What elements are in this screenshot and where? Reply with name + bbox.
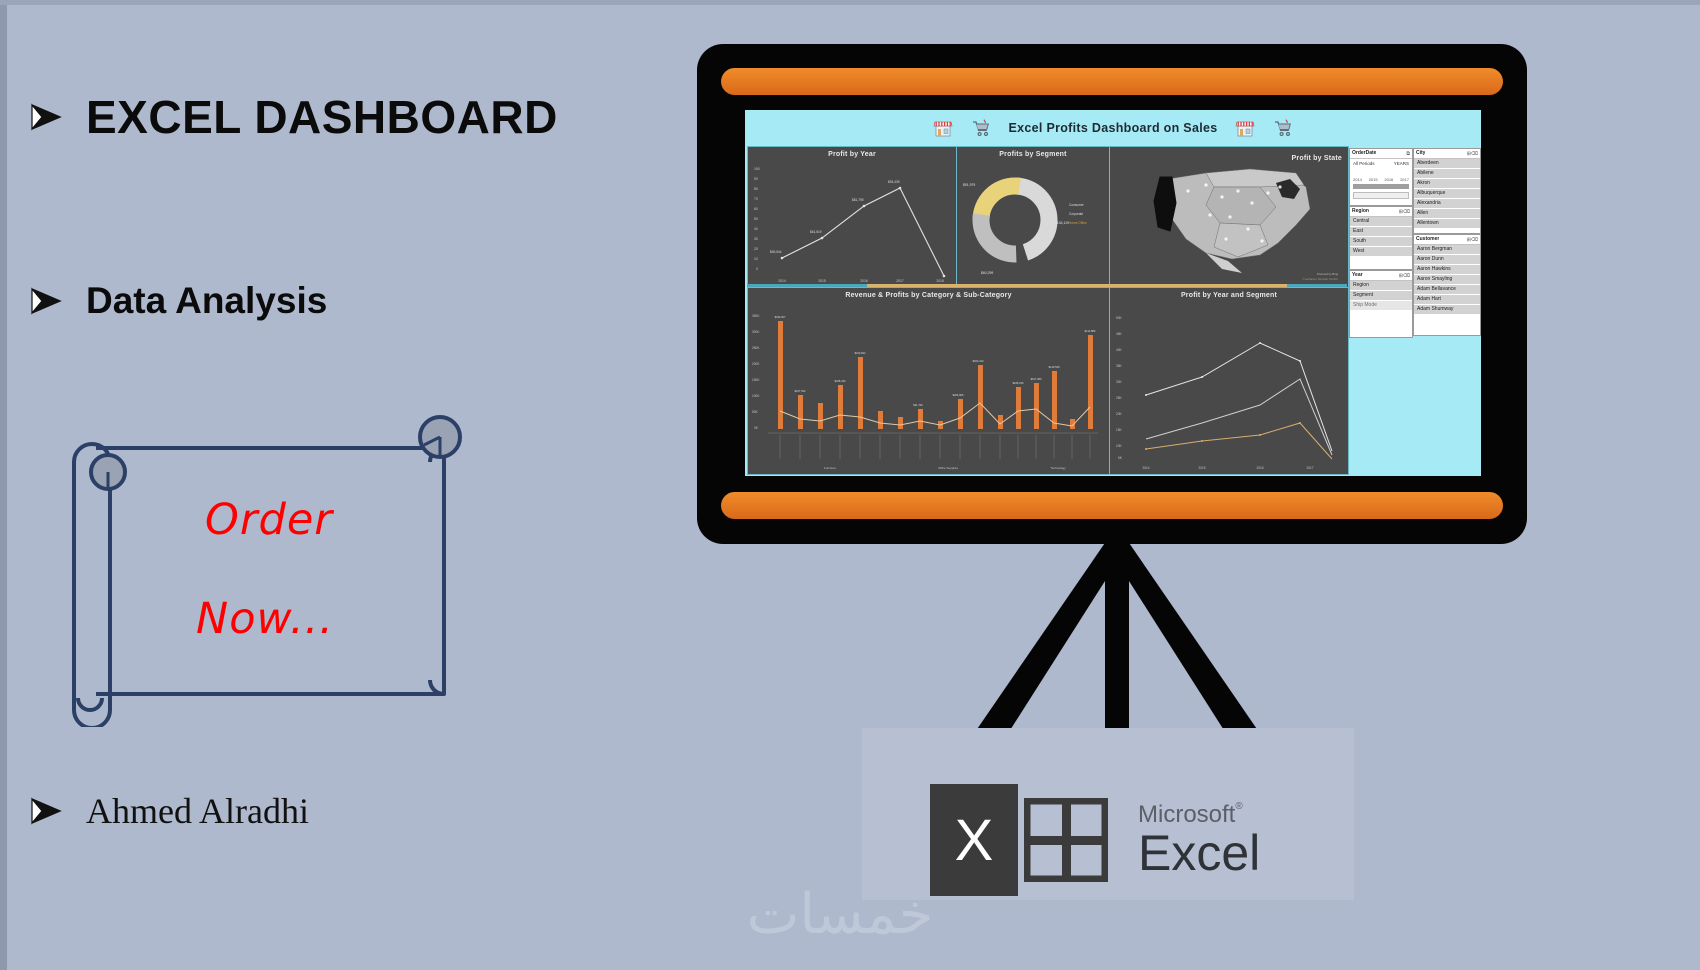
svg-text:0K: 0K [754, 426, 759, 430]
svg-text:300K: 300K [752, 330, 760, 334]
timeline-tick: 2016 [1384, 177, 1393, 182]
shopping-cart-icon [1273, 118, 1293, 138]
svg-text:Corporate: Corporate [1069, 212, 1083, 216]
svg-text:$49,544: $49,544 [770, 250, 782, 254]
slicer-item[interactable]: Aaron Dunn [1414, 255, 1480, 265]
svg-text:70: 70 [754, 197, 758, 201]
slicer-header: Region ⊞⌫ [1350, 207, 1412, 217]
timeline-tick: 2015 [1369, 177, 1378, 182]
slicer-item[interactable]: Alexandria [1414, 199, 1480, 209]
svg-text:2015: 2015 [818, 279, 826, 283]
svg-text:15K: 15K [1116, 428, 1123, 432]
timeline-tick: 2014 [1353, 177, 1362, 182]
slicer-city[interactable]: City ⊞⌫ Aberdeen Abilene Akron Albuquerq… [1413, 148, 1481, 234]
svg-text:50K: 50K [752, 410, 759, 414]
svg-text:50: 50 [754, 217, 758, 221]
dashboard-header: Excel Profits Dashboard on Sales [745, 110, 1481, 146]
timeline-selection-bar[interactable] [1353, 184, 1409, 189]
excel-x-tile: X [930, 784, 1018, 896]
svg-text:© GeoNames, Microsoft, TomTom: © GeoNames, Microsoft, TomTom [1302, 278, 1338, 281]
chart-profit-by-year[interactable]: Profit by Year 1009080 706050 403020 100 [747, 146, 957, 288]
microsoft-brand-text: Microsoft® [1138, 801, 1260, 829]
svg-text:30K: 30K [1116, 380, 1123, 384]
slicer-item[interactable]: Adam Shumway [1414, 305, 1480, 315]
svg-text:25K: 25K [1116, 396, 1123, 400]
slicer-item[interactable]: Adam Hart [1414, 295, 1480, 305]
multiselect-icon[interactable]: ⊞⌫ [1467, 237, 1478, 243]
excel-grid-icon [1024, 798, 1108, 882]
svg-text:200K: 200K [752, 362, 760, 366]
svg-text:$61,619: $61,619 [810, 230, 822, 234]
slicer-item[interactable]: South [1350, 237, 1412, 247]
svg-text:Home Office: Home Office [1069, 221, 1087, 225]
chart-title: Profits by Segment [957, 147, 1109, 158]
svg-text:0: 0 [756, 267, 758, 271]
slide-title: EXCEL DASHBOARD [86, 90, 558, 144]
projector-screen: Excel Profits Dashboard on Sales [697, 44, 1527, 554]
slicer-item[interactable]: Aaron Bergman [1414, 245, 1480, 255]
svg-text:$328,449: $328,449 [835, 379, 846, 383]
slicer-item[interactable]: Segment [1350, 291, 1412, 301]
svg-text:60: 60 [754, 207, 758, 211]
svg-text:50K: 50K [1116, 316, 1123, 320]
slicer-region[interactable]: Region ⊞⌫ Central East South West [1349, 206, 1413, 270]
svg-text:$330,007: $330,007 [775, 315, 786, 319]
slicer-header: City ⊞⌫ [1414, 149, 1480, 159]
svg-text:$93,439: $93,439 [888, 180, 900, 184]
screen-bottom-bar[interactable] [721, 492, 1503, 519]
svg-text:Office Supplies: Office Supplies [938, 466, 959, 470]
svg-text:2017: 2017 [1306, 466, 1313, 470]
slicer-header: OrderDate ⧉ [1350, 149, 1412, 159]
chart-profits-by-segment[interactable]: Profits by Segment $91,979 $60,299 [956, 146, 1110, 288]
slicer-item[interactable]: Aaron Hawkins [1414, 265, 1480, 275]
svg-text:2017: 2017 [896, 279, 904, 283]
slicer-header: Year ⊞⌫ [1350, 271, 1412, 281]
svg-text:10: 10 [754, 257, 758, 261]
svg-text:$134,119: $134,119 [1055, 221, 1069, 225]
svg-text:250K: 250K [752, 346, 760, 350]
svg-text:2015: 2015 [1198, 466, 1205, 470]
slicer-item[interactable]: Ship Mode [1350, 301, 1412, 311]
slicer-item[interactable]: Aaron Smayling [1414, 275, 1480, 285]
bullet-item-author: Ahmed Alradhi [30, 790, 309, 832]
timeline-scrollbar[interactable] [1353, 192, 1409, 199]
slicer-panel: OrderDate ⧉ All Periods YEARS 2014 [1349, 148, 1481, 388]
svg-text:2016: 2016 [1256, 466, 1263, 470]
projector-tripod [887, 529, 1347, 749]
scroll-banner: Order Now... [62, 412, 462, 727]
multiselect-icon[interactable]: ⊞⌫ [1467, 151, 1478, 157]
chart-title: Profit by Year [748, 147, 956, 158]
svg-text:150K: 150K [752, 378, 760, 382]
svg-text:5K: 5K [1118, 456, 1123, 460]
svg-text:100: 100 [754, 167, 760, 171]
svg-text:35K: 35K [1116, 364, 1123, 368]
chart-profit-by-state[interactable]: Profit by State [1109, 146, 1349, 288]
shopping-cart-icon [971, 118, 991, 138]
dashboard-panels: Profit by Year 1009080 706050 403020 100 [747, 146, 1347, 474]
store-icon [933, 118, 953, 138]
chart-title: Profit by Year and Segment [1110, 288, 1348, 299]
excel-dashboard: Excel Profits Dashboard on Sales [745, 110, 1481, 476]
slicer-title: Region [1352, 207, 1369, 216]
slicer-title: Customer [1416, 235, 1439, 244]
store-icon [1235, 118, 1255, 138]
trademark-mark: ® [1235, 801, 1242, 812]
svg-text:$91,705: $91,705 [913, 403, 923, 407]
svg-text:45K: 45K [1116, 332, 1123, 336]
screen-top-bar [721, 68, 1503, 95]
excel-product-text: Excel [1138, 827, 1260, 880]
svg-text:$223,844: $223,844 [855, 351, 866, 355]
svg-text:40K: 40K [1116, 348, 1123, 352]
chart-title: Profit by State [1292, 151, 1342, 162]
svg-text:2018: 2018 [936, 279, 944, 283]
chart-title: Revenue & Profits by Category & Sub-Cate… [748, 288, 1109, 299]
svg-text:30: 30 [754, 237, 758, 241]
dashboard-title: Excel Profits Dashboard on Sales [1009, 121, 1218, 135]
svg-text:20: 20 [754, 247, 758, 251]
svg-text:Powered by Bing: Powered by Bing [1317, 272, 1339, 276]
svg-text:$149,528: $149,528 [1049, 365, 1060, 369]
slicer-item[interactable]: West [1350, 247, 1412, 257]
svg-text:$206,966: $206,966 [953, 393, 964, 397]
author-name: Ahmed Alradhi [86, 790, 309, 832]
svg-text:80: 80 [754, 187, 758, 191]
svg-text:$91,979: $91,979 [963, 183, 975, 187]
multiselect-icon[interactable]: ⊞⌫ [1399, 273, 1410, 279]
svg-text:100K: 100K [752, 394, 760, 398]
slicer-year[interactable]: Year ⊞⌫ Region Segment Ship Mode [1349, 270, 1413, 338]
bullet-item-topic: Data Analysis [30, 280, 327, 322]
slicer-item[interactable]: Adam Bellavance [1414, 285, 1480, 295]
slicer-title: City [1416, 149, 1425, 158]
screen-frame: Excel Profits Dashboard on Sales [697, 44, 1527, 544]
slicer-item[interactable]: Akron [1414, 179, 1480, 189]
svg-text:$189,239: $189,239 [1013, 381, 1024, 385]
slicer-item[interactable]: Allentown [1414, 219, 1480, 229]
slicer-item[interactable]: Central [1350, 217, 1412, 227]
filter-clear-icon[interactable]: ⧉ [1406, 151, 1410, 157]
slicer-item[interactable]: Allen [1414, 209, 1480, 219]
svg-text:90: 90 [754, 177, 758, 181]
svg-text:$107,532: $107,532 [795, 389, 806, 393]
svg-text:20K: 20K [1116, 412, 1123, 416]
timeline-range-label: All Periods [1353, 161, 1375, 166]
svg-text:Consumer: Consumer [1069, 203, 1085, 207]
bullet-item-title: EXCEL DASHBOARD [30, 90, 558, 144]
timeline-unit-label[interactable]: YEARS [1394, 161, 1409, 166]
svg-text:10K: 10K [1116, 444, 1123, 448]
slicer-title: Year [1352, 271, 1363, 280]
svg-text:Technology: Technology [1050, 466, 1066, 470]
slicer-header: Customer ⊞⌫ [1414, 235, 1480, 245]
slicer-title: OrderDate [1352, 149, 1376, 158]
slicer-item[interactable]: Albuquerque [1414, 189, 1480, 199]
svg-text:350K: 350K [752, 314, 760, 318]
svg-text:$203,413: $203,413 [973, 359, 984, 363]
slicer-item[interactable]: Region [1350, 281, 1412, 291]
arrow-bullet-icon [30, 796, 64, 826]
topic-label: Data Analysis [86, 280, 327, 322]
presentation-slide: EXCEL DASHBOARD Data Analysis Ahmed Alra… [0, 0, 1700, 970]
microsoft-excel-logo: X Microsoft® Excel [862, 728, 1354, 900]
timeline-tick: 2017 [1400, 177, 1409, 182]
svg-text:$167,380: $167,380 [1031, 377, 1042, 381]
slicer-customer[interactable]: Customer ⊞⌫ Aaron Bergman Aaron Dunn Aar… [1413, 234, 1481, 336]
excel-wordmark: Microsoft® Excel [1138, 801, 1260, 880]
svg-text:2014: 2014 [778, 279, 786, 283]
arrow-bullet-icon [30, 102, 64, 132]
slicer-item[interactable]: Aberdeen [1414, 159, 1480, 169]
chart-profit-year-segment[interactable]: Profit by Year and Segment 50K45K 40K35K… [1109, 287, 1349, 475]
svg-text:40: 40 [754, 227, 758, 231]
svg-text:2014: 2014 [1142, 466, 1149, 470]
svg-text:$81,795: $81,795 [852, 198, 864, 202]
slicer-timeline-orderdate[interactable]: OrderDate ⧉ All Periods YEARS 2014 [1349, 148, 1413, 206]
svg-text:2016: 2016 [860, 279, 868, 283]
svg-text:Furniture: Furniture [824, 466, 836, 470]
svg-text:$60,299: $60,299 [981, 271, 993, 275]
slicer-item[interactable]: Abilene [1414, 169, 1480, 179]
arrow-bullet-icon [30, 286, 64, 316]
slicer-item[interactable]: East [1350, 227, 1412, 237]
multiselect-icon[interactable]: ⊞⌫ [1399, 209, 1410, 215]
chart-revenue-profits[interactable]: Revenue & Profits by Category & Sub-Cate… [747, 287, 1110, 475]
screen-surface: Excel Profits Dashboard on Sales [745, 110, 1481, 476]
svg-text:$114,880: $114,880 [1085, 329, 1096, 333]
